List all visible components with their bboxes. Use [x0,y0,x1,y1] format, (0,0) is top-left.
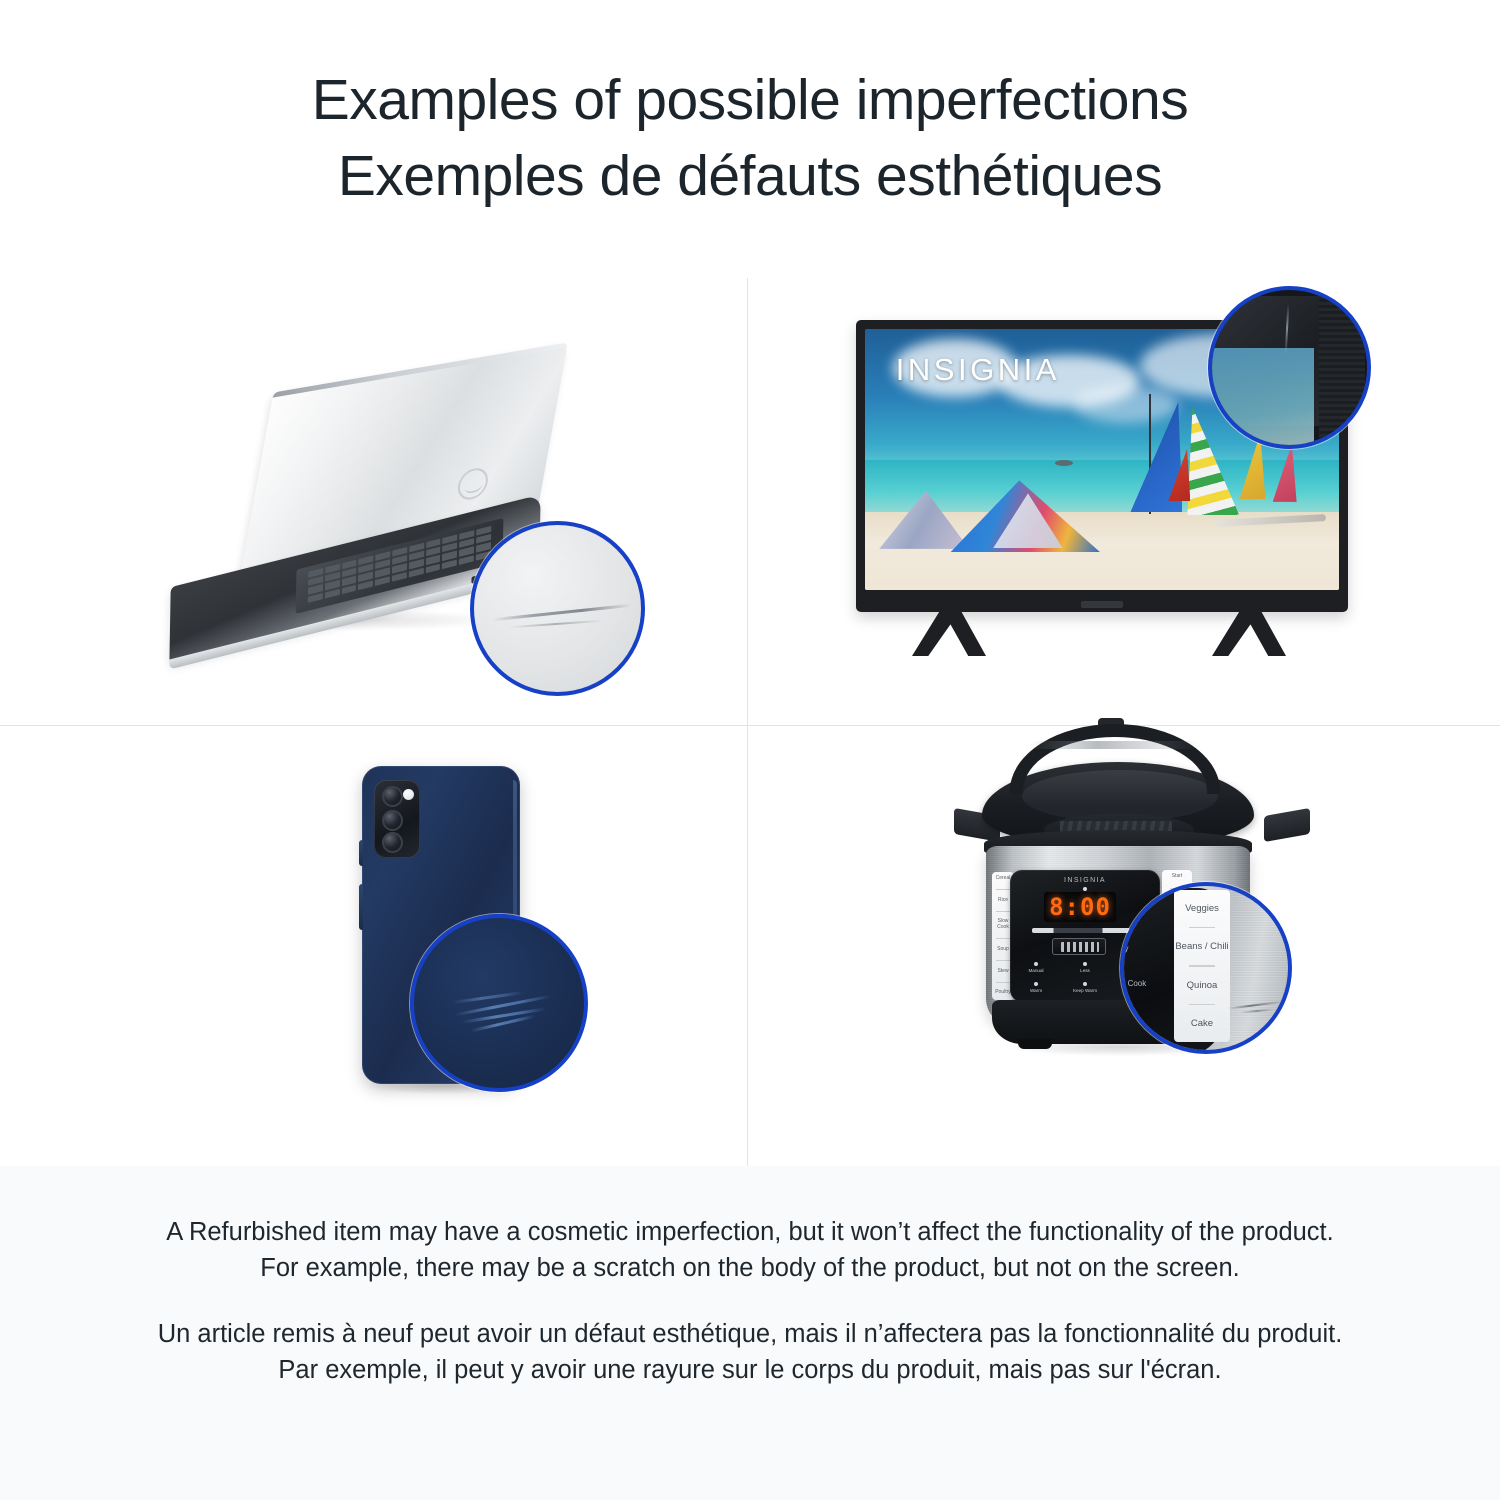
cooker-stage: Cereal Rice Slow Cook Soup Stew Poultry [748,726,1500,1166]
footer-paragraph-french: Un article remis à neuf peut avoir un dé… [150,1316,1350,1388]
cooker-foot-left [1018,1039,1052,1049]
cooker-zoom-left-labels: Delay Slow Cook [1120,944,1152,988]
tv-magnifier-content [1212,290,1367,445]
cooker-button-label[interactable]: Poultry [995,990,1011,996]
button-separator [996,960,1010,961]
cooker-status-led [1083,887,1087,891]
rock-shape [1055,460,1073,466]
page-title-english: Examples of possible imperfections [312,62,1188,138]
button-separator [996,911,1010,912]
button-led [1034,982,1038,986]
camera-module [374,780,420,858]
cooker-button-label: Manual [1022,968,1050,974]
cooker-brand-text: INSIGNIA [1064,877,1106,884]
tv-stage: INSIGNIA [748,278,1500,725]
phone-image [362,766,562,1106]
cell-television: INSIGNIA [748,278,1500,725]
laptop-magnifier-circle [470,521,645,696]
cooker-keep-warm-button[interactable] [1052,938,1106,955]
cooker-lcd-display: 8:00 [1044,892,1116,922]
button-separator [996,889,1010,890]
phone-button-top [359,840,363,866]
cooker-button-label[interactable]: Veggies [1185,903,1219,914]
cell-laptop [0,278,747,725]
footer-paragraph-english: A Refurbished item may have a cosmetic i… [150,1214,1350,1286]
dell-logo-icon [457,465,488,503]
cooker-keep-warm-glyph [1061,942,1099,952]
camera-lens-icon [382,786,403,807]
cloud-shape [1074,386,1178,423]
cooker-mid-button[interactable]: Manual [1022,962,1050,974]
tv-side-edge-zoom [1319,296,1365,446]
cooker-button-label[interactable]: Cake [1191,1018,1213,1029]
footer-description: A Refurbished item may have a cosmetic i… [0,1166,1500,1500]
brushed-texture-zoom [1220,886,1288,1050]
header: Examples of possible imperfections Exemp… [0,0,1500,260]
tv-image: INSIGNIA [856,320,1356,670]
cooker-mid-button[interactable]: Keep Warm [1071,982,1099,994]
tv-panel-zoom [1208,348,1314,449]
page-title-french: Exemples de défauts esthétiques [338,138,1162,214]
cooker-button-label[interactable]: Soup [997,947,1009,953]
camera-lens-icon [382,810,403,831]
tv-magnifier-circle [1208,286,1371,449]
button-separator [996,938,1010,939]
camera-flash-icon [403,789,414,800]
button-separator [996,982,1010,983]
cooker-button-label[interactable]: Stew [997,969,1008,975]
cooker-button-label[interactable]: Rice [998,898,1008,904]
cooker-button-label: Delay [1120,944,1152,953]
camera-lens-icon [382,832,403,853]
cooker-button-label: Warm [1022,988,1050,994]
laptop-stage [0,278,747,725]
phone-button-volume [359,884,363,930]
cooker-image: Cereal Rice Slow Cook Soup Stew Poultry [966,734,1296,1084]
examples-grid: INSIGNIA [0,278,1500,1166]
cooker-button-label: Slow Cook [1120,979,1152,988]
tv-screen-brand-text: INSIGNIA [896,352,1060,388]
cooker-button-label[interactable]: Cereal [996,876,1011,882]
button-led [1034,962,1038,966]
tv-bottom-logo-strip [1081,601,1123,608]
button-separator [1189,965,1215,967]
refurbished-imperfections-infographic: Examples of possible imperfections Exemp… [0,0,1500,1500]
cooker-carry-handle [1010,724,1220,794]
cooker-pressure-bar [1032,928,1130,933]
cell-smartphone [0,726,747,1166]
laptop-image [170,373,590,653]
button-led [1083,982,1087,986]
cooker-handle-right [1264,808,1310,842]
cooker-button-label[interactable]: Beans / Chili [1175,941,1228,952]
cooker-button-label: Keep Warm [1071,988,1099,994]
cooker-mid-button[interactable]: Warm [1022,982,1050,994]
cell-pressure-cooker: Cereal Rice Slow Cook Soup Stew Poultry [748,726,1500,1166]
tv-leg-left [912,608,986,656]
cooker-zoom-button-column: Veggies Beans / Chili Quinoa Cake [1174,890,1230,1042]
phone-stage [0,726,747,1166]
cooker-button-label[interactable]: Quinoa [1187,980,1218,991]
cooker-mid-button[interactable]: Less [1071,962,1099,974]
cooker-display-value: 8:00 [1049,893,1111,921]
button-led [1083,962,1087,966]
laptop-scratch-primary [492,604,632,622]
laptop-scratch-secondary [508,620,604,629]
tv-leg-right [1212,608,1286,656]
cooker-button-label[interactable]: Start [1172,874,1183,880]
phone-magnifier-circle [410,914,588,1092]
cooker-magnifier-circle: Delay Slow Cook Veggies Beans / Chili Qu… [1120,882,1292,1054]
cooker-button-label: Less [1071,968,1099,974]
button-separator [1189,1004,1215,1006]
button-separator [1189,927,1215,929]
